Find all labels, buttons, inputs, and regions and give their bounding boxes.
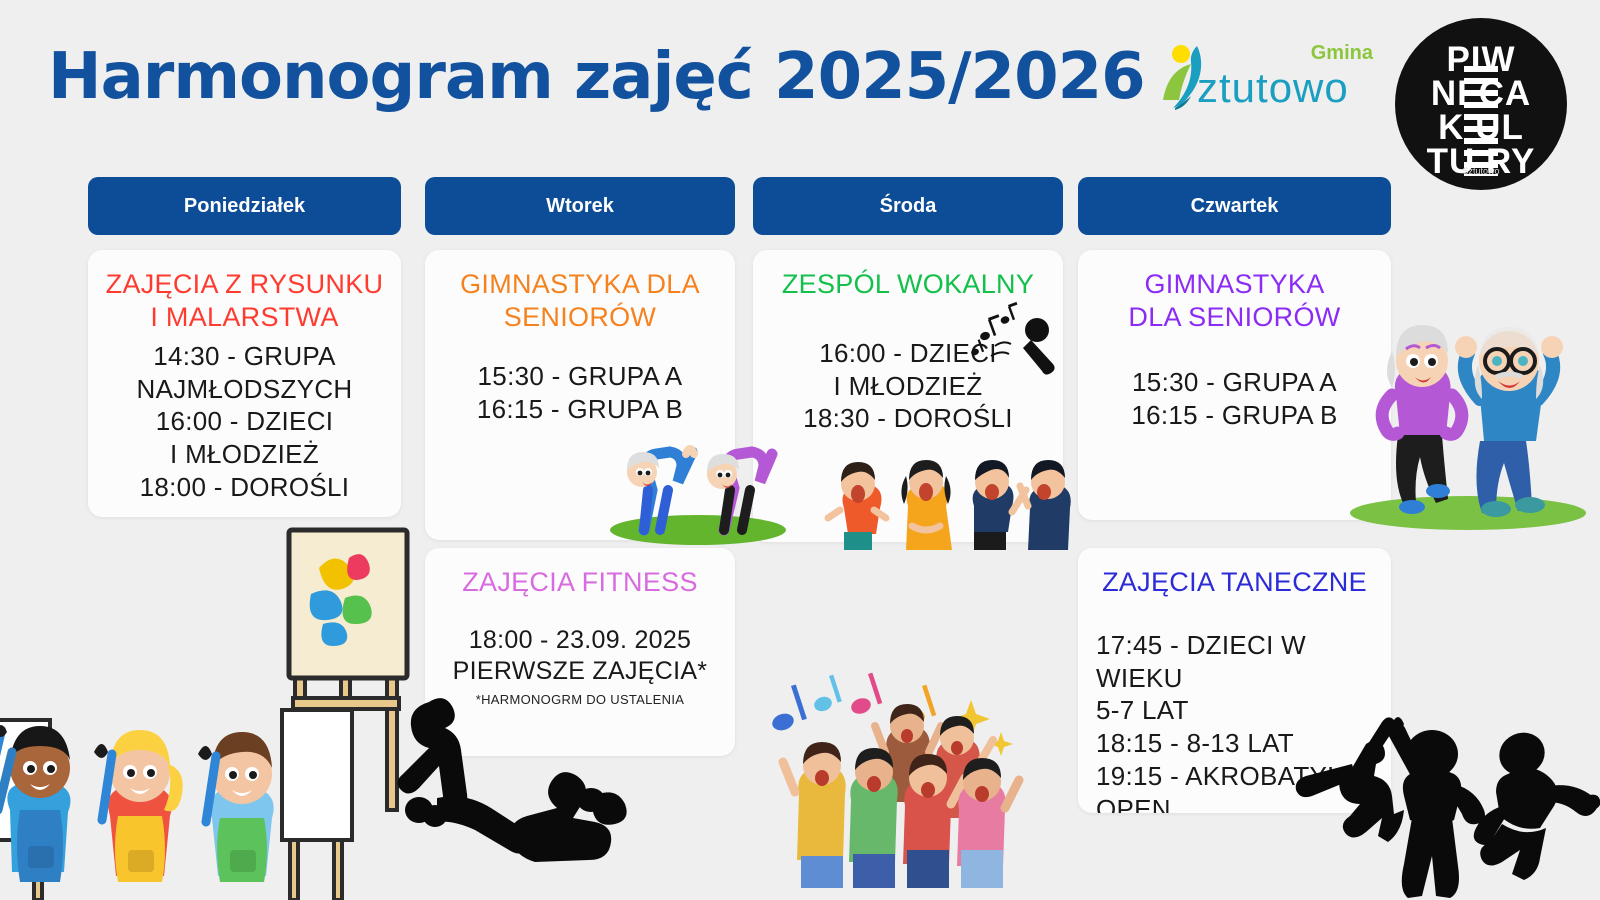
gmina-sztutowo-logo: Gmina ztutowo [1155, 38, 1375, 118]
microphone-music-notes-icon [965, 300, 1065, 380]
day-header-tuesday: Wtorek [425, 177, 735, 235]
logo-gmina-label: Gmina [1311, 42, 1373, 65]
page-title: Harmonogram zajęć 2025/2026 [48, 40, 1145, 114]
logo-row-4: TU RY [1395, 142, 1567, 182]
senior-stretching-couple-illustration [600, 430, 795, 545]
day-header-monday: Poniedziałek [88, 177, 401, 235]
schedule-poster: Harmonogram zajęć 2025/2026 Gmina ztutow… [0, 0, 1600, 900]
day-header-monday-label: Poniedziałek [184, 195, 305, 218]
piwnica-kultury-logo: PIW NI CA K UL TU RY Sztutowo [1395, 18, 1567, 190]
dancer-silhouettes-illustration [1290, 700, 1600, 900]
logo-sztutowo-label: ztutowo [1197, 64, 1349, 112]
day-header-wednesday-label: Środa [880, 195, 937, 218]
card-monday-drawing: ZAJĘCIA Z RYSUNKUI MALARSTWA 14:30 - GRU… [88, 250, 401, 517]
senior-cheering-couple-illustration [1340, 285, 1585, 530]
fitness-silhouettes-illustration [385, 690, 685, 865]
day-header-tuesday-label: Wtorek [546, 195, 614, 218]
card-schedule-lines: 18:00 - 23.09. 2025PIERWSZE ZAJĘCIA* [425, 599, 735, 688]
card-title: ZAJĘCIA FITNESS [425, 548, 735, 599]
card-title: ZESPÓL WOKALNY [753, 250, 1063, 301]
card-title: ZAJĘCIA Z RYSUNKUI MALARSTWA [88, 250, 401, 334]
cheering-children-illustration [765, 660, 1055, 900]
day-header-thursday: Czwartek [1078, 177, 1391, 235]
painting-kids-illustration [0, 660, 370, 900]
card-schedule-lines: 14:30 - GRUPANAJMŁODSZYCH16:00 - DZIECII… [88, 334, 401, 504]
card-schedule-lines: 15:30 - GRUPA A16:15 - GRUPA B [425, 334, 735, 426]
day-header-thursday-label: Czwartek [1191, 195, 1279, 218]
card-title: GIMNASTYKA DLASENIORÓW [425, 250, 735, 334]
day-header-wednesday: Środa [753, 177, 1063, 235]
singing-children-illustration [822, 448, 1062, 558]
card-title: ZAJĘCIA TANECZNE [1078, 548, 1391, 599]
logo-signature: Sztutowo [1395, 166, 1567, 176]
